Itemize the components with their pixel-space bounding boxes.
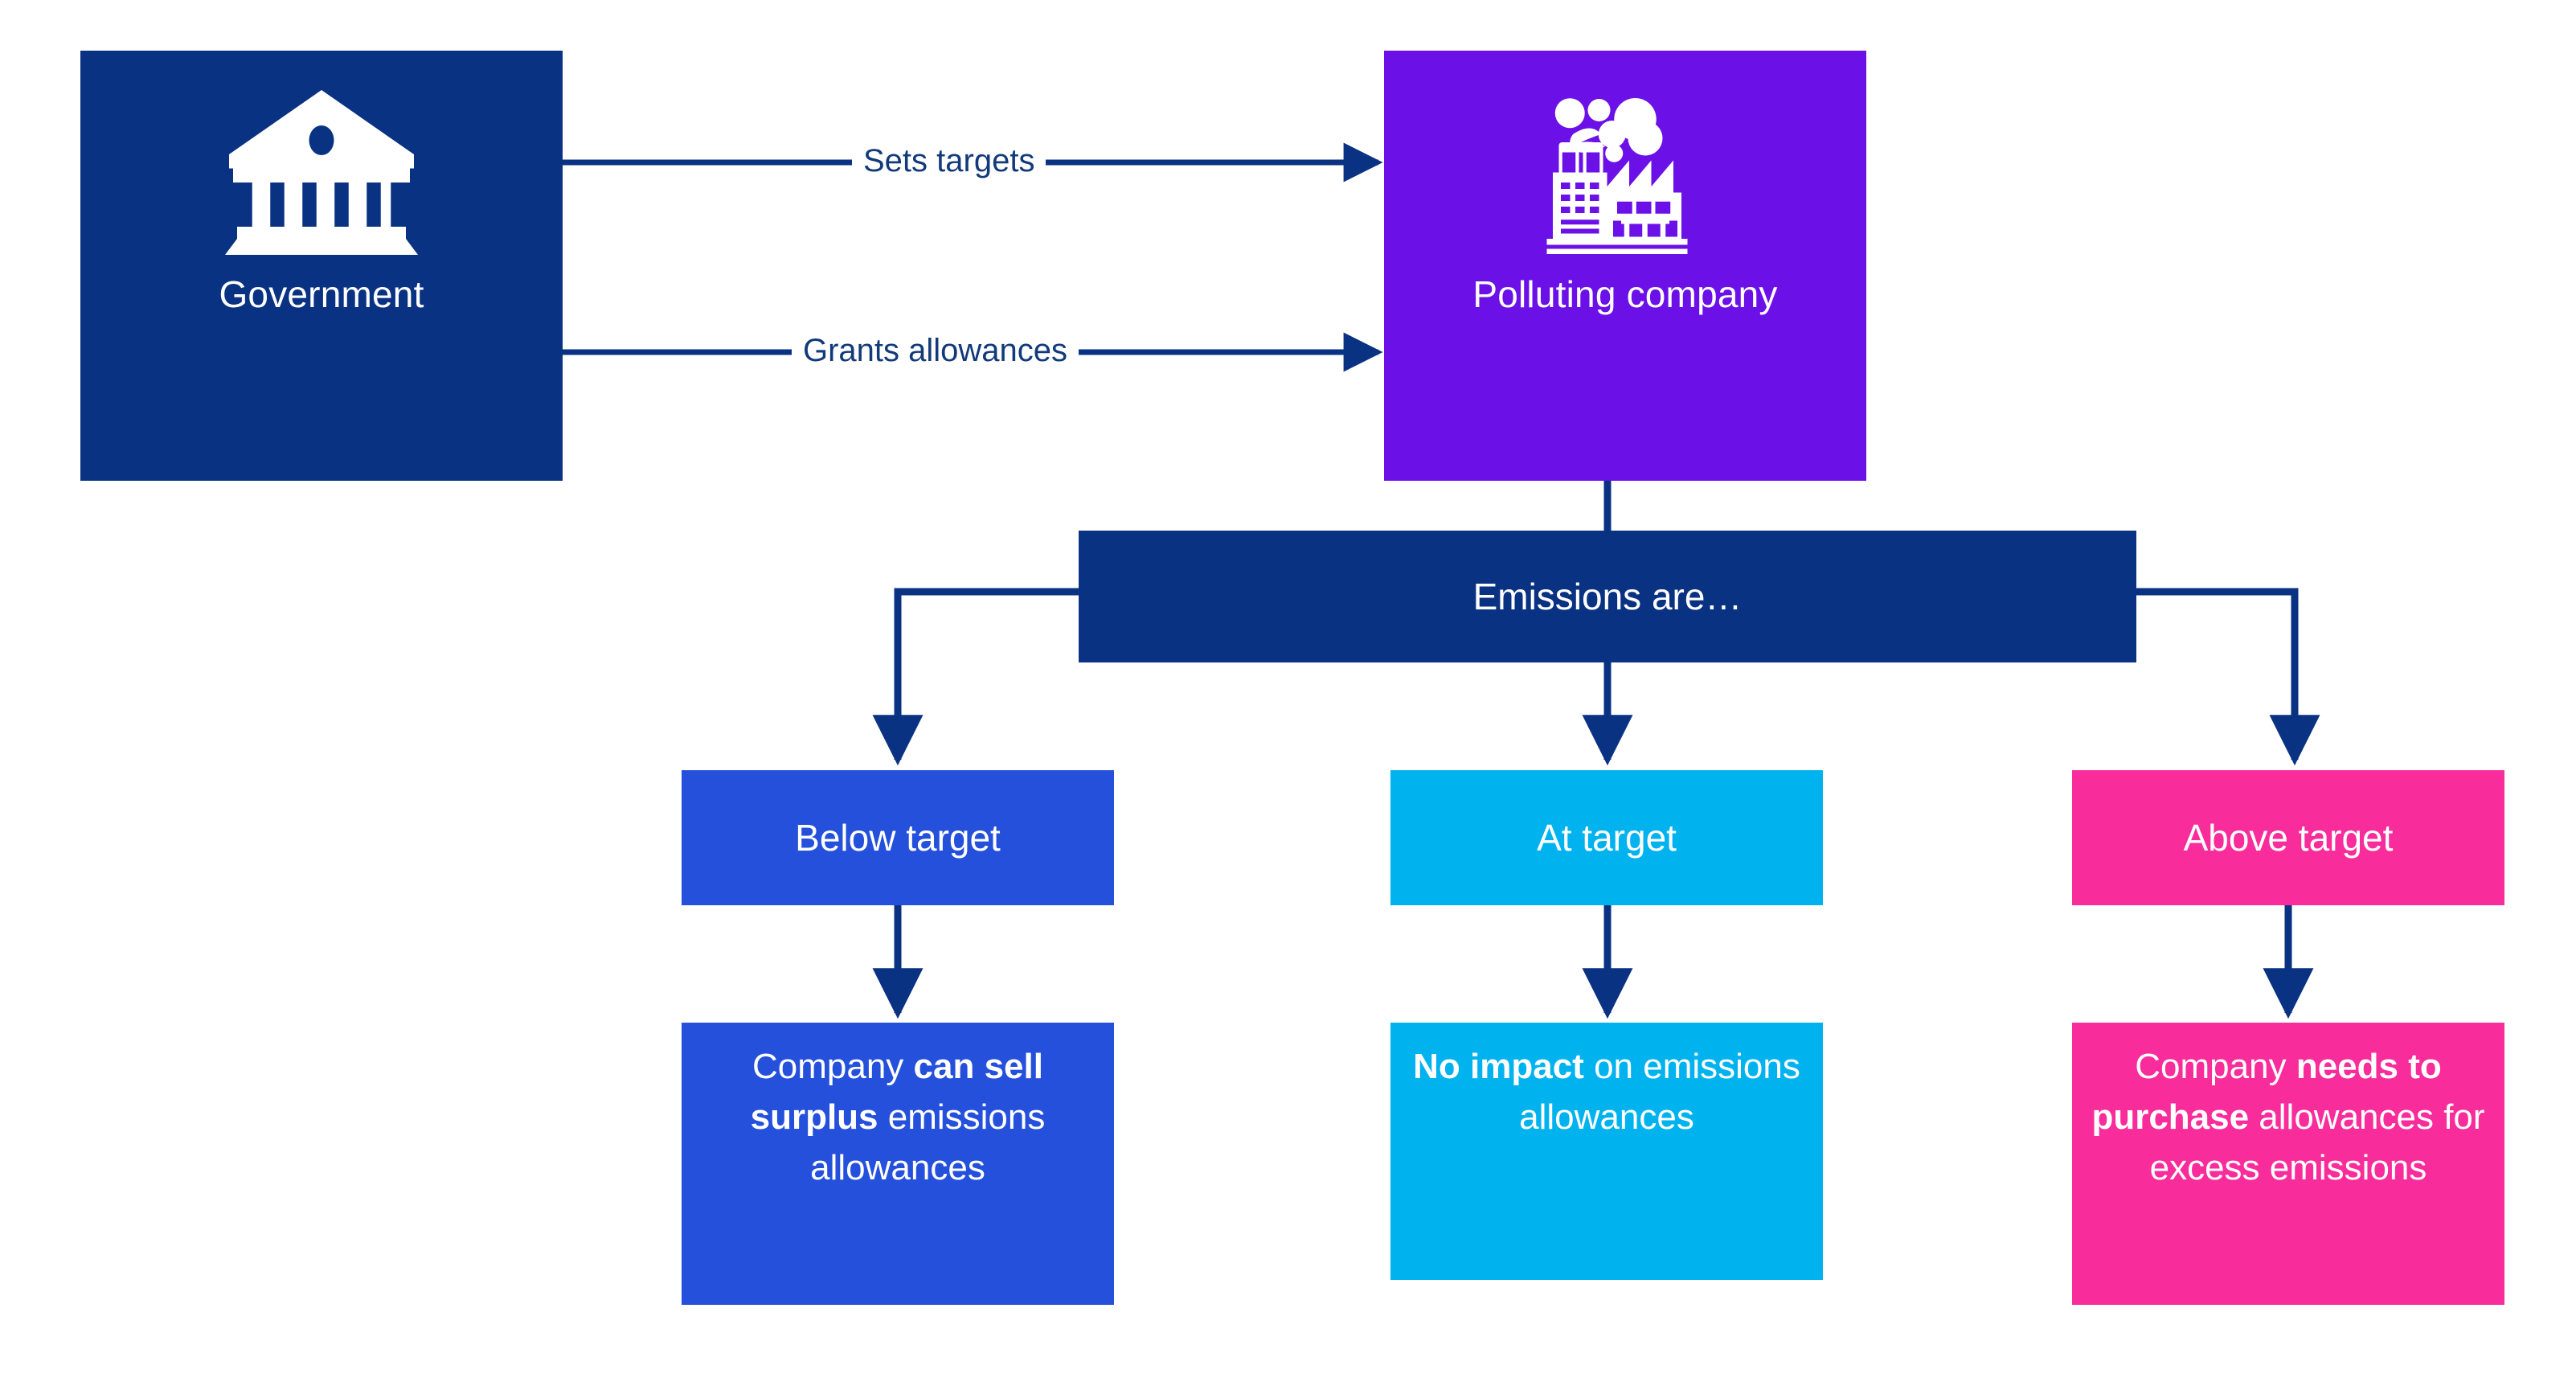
outcome-below-target-text: Company can sell surplus emissions allow… <box>693 1042 1103 1194</box>
category-below-target[interactable]: Below target <box>682 770 1114 905</box>
category-below-target-label: Below target <box>795 818 1001 859</box>
diagram-canvas: Government <box>0 0 2576 1382</box>
edge-label-grants-allowances: Grants allowances <box>792 334 1079 367</box>
outcome-at-target-text: No impact on emissions allowances <box>1402 1042 1812 1143</box>
emissions-decision-bar[interactable]: Emissions are… <box>1079 531 2136 662</box>
category-above-target-label: Above target <box>2184 818 2394 859</box>
polluting-company-node[interactable]: Polluting company <box>1384 51 1866 481</box>
category-at-target-label: At target <box>1537 818 1677 859</box>
outcome-above-target-text: Company needs to purchase allowances for… <box>2083 1042 2493 1194</box>
edge-decision-to-below <box>898 592 1079 760</box>
outcome-at-target[interactable]: No impact on emissions allowances <box>1390 1023 1823 1280</box>
government-label: Government <box>219 274 424 315</box>
category-above-target[interactable]: Above target <box>2072 770 2504 905</box>
polluting-factory-icon <box>1525 86 1726 263</box>
outcome-below-target[interactable]: Company can sell surplus emissions allow… <box>682 1023 1114 1305</box>
outcome-above-target[interactable]: Company needs to purchase allowances for… <box>2072 1023 2504 1305</box>
emissions-decision-label: Emissions are… <box>1473 576 1743 617</box>
edge-label-sets-targets: Sets targets <box>852 145 1046 177</box>
polluting-company-label: Polluting company <box>1472 274 1777 315</box>
category-at-target[interactable]: At target <box>1390 770 1823 905</box>
edge-decision-to-above <box>2136 592 2295 760</box>
government-building-icon <box>221 86 422 263</box>
government-node[interactable]: Government <box>80 51 563 481</box>
